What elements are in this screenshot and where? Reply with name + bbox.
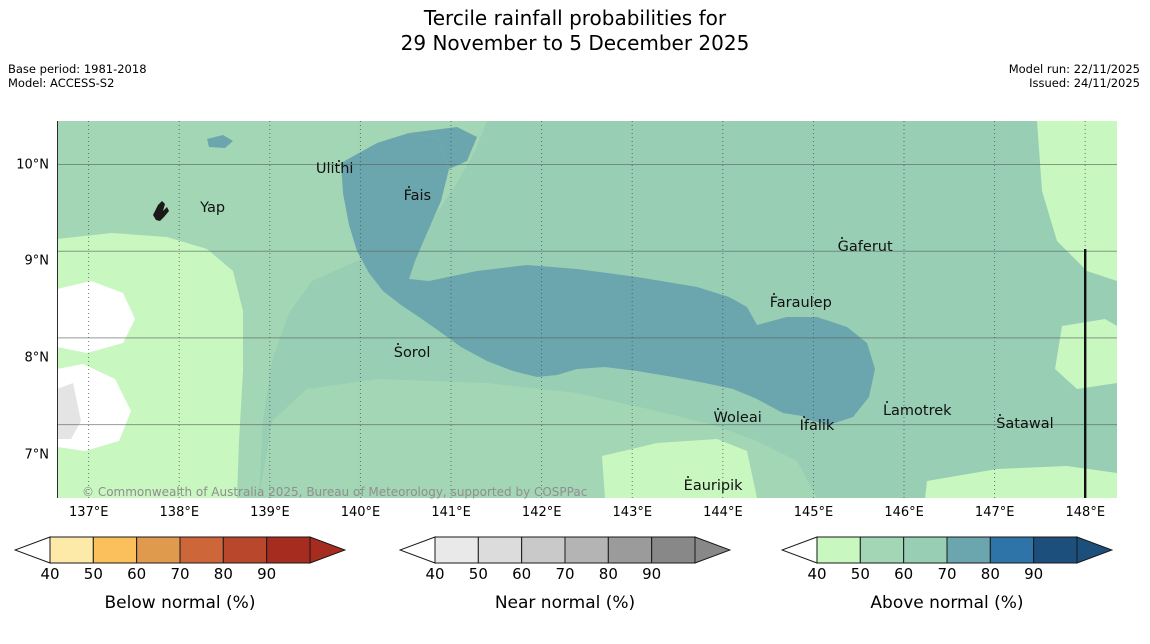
colorbar-tick-2: 60	[894, 565, 913, 583]
colorbar-tick-4: 80	[599, 565, 618, 583]
colorbar-band-2	[904, 537, 947, 563]
colorbar-band-5	[652, 537, 695, 563]
place-label-faraulep: Faraulep	[770, 295, 832, 311]
colorbar-band-3	[180, 537, 223, 563]
base-period-text: Base period: 1981-2018	[8, 62, 147, 76]
title-line-1: Tercile rainfall probabilities for	[0, 6, 1150, 31]
colorbar-scale-near-normal	[399, 536, 731, 564]
metadata-right: Model run: 22/11/2025 Issued: 24/11/2025	[1009, 62, 1140, 90]
place-label-gaferut: Gaferut	[838, 239, 893, 255]
colorbar-band-0	[435, 537, 478, 563]
model-text: Model: ACCESS-S2	[8, 76, 147, 90]
colorbar-tick-0: 40	[40, 565, 59, 583]
colorbar-band-3	[565, 537, 608, 563]
x-tick-label-3: 140°E	[341, 505, 381, 520]
colorbar-tick-4: 80	[981, 565, 1000, 583]
colorbar-under-arrow	[400, 537, 435, 563]
colorbar-svg-above-normal	[781, 536, 1113, 564]
colorbar-band-3	[947, 537, 990, 563]
place-label-woleai: Woleai	[714, 410, 762, 426]
colorbar-band-2	[522, 537, 565, 563]
colorbar-svg-near-normal	[399, 536, 731, 564]
map-canvas	[57, 121, 1117, 498]
y-tick-label-0: 10°N	[16, 157, 49, 172]
colorbar-band-2	[137, 537, 180, 563]
colorbar-band-4	[608, 537, 651, 563]
y-tick-label-3: 7°N	[25, 447, 50, 462]
x-tick-label-2: 139°E	[250, 505, 290, 520]
x-tick-label-4: 141°E	[431, 505, 471, 520]
colorbar-ticks-near-normal: 405060708090	[399, 565, 731, 587]
x-tick-label-11: 148°E	[1066, 505, 1106, 520]
colorbar-title-near-normal: Near normal (%)	[399, 593, 731, 613]
x-tick-label-8: 145°E	[794, 505, 834, 520]
colorbar-band-1	[93, 537, 136, 563]
colorbar-svg-below-normal	[14, 536, 346, 564]
place-label-sorol: Sorol	[394, 345, 431, 361]
colorbar-band-5	[1034, 537, 1077, 563]
colorbar-title-below-normal: Below normal (%)	[14, 593, 346, 613]
colorbar-band-5	[267, 537, 310, 563]
colorbar-tick-0: 40	[807, 565, 826, 583]
colorbar-below-normal: 405060708090Below normal (%)	[14, 536, 346, 636]
colorbar-tick-3: 70	[937, 565, 956, 583]
colorbar-band-0	[817, 537, 860, 563]
y-tick-label-1: 9°N	[25, 254, 50, 269]
copyright-text: © Commonwealth of Australia 2025, Bureau…	[82, 485, 587, 499]
colorbar-ticks-below-normal: 405060708090	[14, 565, 346, 587]
metadata-left: Base period: 1981-2018 Model: ACCESS-S2	[8, 62, 147, 90]
colorbar-tick-1: 50	[84, 565, 103, 583]
colorbar-tick-5: 90	[642, 565, 661, 583]
colorbar-ticks-above-normal: 405060708090	[781, 565, 1113, 587]
colorbar-tick-3: 70	[170, 565, 189, 583]
colorbar-over-arrow	[695, 537, 730, 563]
colorbar-title-above-normal: Above normal (%)	[781, 593, 1113, 613]
tercile-rainfall-probability-map: Tercile rainfall probabilities for 29 No…	[0, 0, 1150, 644]
colorbar-over-arrow	[1077, 537, 1112, 563]
colorbar-tick-5: 90	[1024, 565, 1043, 583]
colorbar-band-4	[990, 537, 1033, 563]
colorbar-band-1	[478, 537, 521, 563]
x-tick-label-10: 147°E	[975, 505, 1015, 520]
colorbar-tick-5: 90	[257, 565, 276, 583]
title-line-2: 29 November to 5 December 2025	[0, 31, 1150, 56]
colorbar-scale-above-normal	[781, 536, 1113, 564]
colorbar-tick-2: 60	[512, 565, 531, 583]
place-label-ulithi: Ulithi	[316, 161, 354, 177]
x-tick-label-5: 142°E	[522, 505, 562, 520]
colorbar-tick-4: 80	[214, 565, 233, 583]
y-tick-label-2: 8°N	[25, 350, 50, 365]
place-label-ifalik: Ifalik	[800, 418, 835, 434]
x-tick-label-9: 146°E	[884, 505, 924, 520]
x-tick-label-0: 137°E	[69, 505, 109, 520]
place-label-satawal: Satawal	[996, 416, 1053, 432]
colorbar-near-normal: 405060708090Near normal (%)	[399, 536, 731, 636]
probability-contour-map	[57, 121, 1117, 498]
colorbar-tick-3: 70	[555, 565, 574, 583]
colorbar-tick-0: 40	[425, 565, 444, 583]
place-label-yap: Yap	[200, 200, 225, 216]
colorbar-above-normal: 405060708090Above normal (%)	[781, 536, 1113, 636]
colorbar-under-arrow	[15, 537, 50, 563]
place-label-fais: Fais	[404, 188, 431, 204]
colorbar-band-4	[223, 537, 266, 563]
colorbar-scale-below-normal	[14, 536, 346, 564]
issued-text: Issued: 24/11/2025	[1009, 76, 1140, 90]
colorbar-over-arrow	[310, 537, 345, 563]
colorbar-tick-1: 50	[851, 565, 870, 583]
x-tick-label-6: 143°E	[613, 505, 653, 520]
colorbar-tick-2: 60	[127, 565, 146, 583]
x-tick-label-7: 144°E	[703, 505, 743, 520]
model-run-text: Model run: 22/11/2025	[1009, 62, 1140, 76]
place-label-lamotrek: Lamotrek	[883, 403, 952, 419]
colorbar-band-0	[50, 537, 93, 563]
colorbar-band-1	[860, 537, 903, 563]
page-title: Tercile rainfall probabilities for 29 No…	[0, 6, 1150, 56]
colorbar-tick-1: 50	[469, 565, 488, 583]
place-label-eauripik: Eauripik	[684, 478, 743, 494]
x-tick-label-1: 138°E	[160, 505, 200, 520]
colorbar-under-arrow	[782, 537, 817, 563]
